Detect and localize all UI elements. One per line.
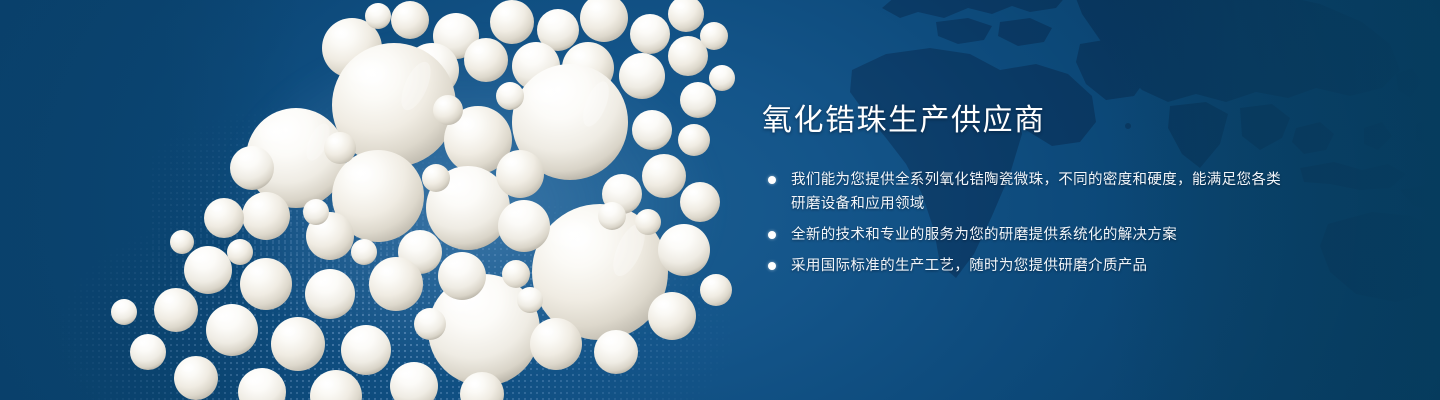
list-item: 采用国际标准的生产工艺，随时为您提供研磨介质产品 [762,254,1282,278]
bullet-text: 我们能为您提供全系列氧化锆陶瓷微珠，不同的密度和硬度，能满足您各类研磨设备和应用… [791,168,1282,216]
bullet-text: 采用国际标准的生产工艺，随时为您提供研磨介质产品 [791,254,1282,278]
feature-bullet-list: 我们能为您提供全系列氧化锆陶瓷微珠，不同的密度和硬度，能满足您各类研磨设备和应用… [762,168,1282,278]
bullet-text: 全新的技术和专业的服务为您的研磨提供系统化的解决方案 [791,223,1282,247]
page-title: 氧化锆珠生产供应商 [762,104,1282,138]
bullet-dot-icon [768,176,776,184]
bullet-dot-icon [768,262,776,270]
hero-banner: 氧化锆珠生产供应商 我们能为您提供全系列氧化锆陶瓷微珠，不同的密度和硬度，能满足… [0,0,1440,400]
banner-copy: 氧化锆珠生产供应商 我们能为您提供全系列氧化锆陶瓷微珠，不同的密度和硬度，能满足… [762,104,1282,278]
bullet-dot-icon [768,231,776,239]
list-item: 全新的技术和专业的服务为您的研磨提供系统化的解决方案 [762,223,1282,247]
zirconia-beads-photo [0,0,780,400]
list-item: 我们能为您提供全系列氧化锆陶瓷微珠，不同的密度和硬度，能满足您各类研磨设备和应用… [762,168,1282,216]
